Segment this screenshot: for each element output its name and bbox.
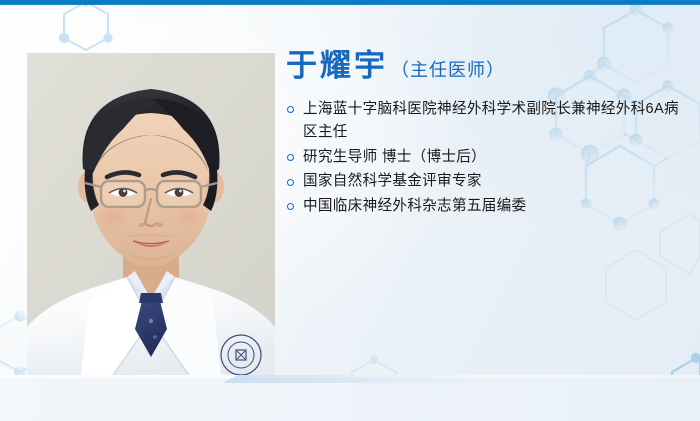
top-accent-bar [0,0,700,5]
credential-item: 研究生导师 博士（博士后） [286,146,680,170]
bottom-strip [0,375,700,421]
credential-item: 上海蓝十字脑科医院神经外科学术副院长兼神经外科6A病区主任 [286,98,680,145]
credential-item: 中国临床神经外科杂志第五届编委 [286,195,680,219]
doctor-profile-card: 于耀宇 （主任医师） 上海蓝十字脑科医院神经外科学术副院长兼神经外科6A病区主任… [0,0,700,421]
doctor-title-suffix: （主任医师） [391,56,505,82]
strip-diagonal-accent [223,375,509,383]
doctor-info-column: 于耀宇 （主任医师） 上海蓝十字脑科医院神经外科学术副院长兼神经外科6A病区主任… [286,50,680,219]
doctor-name-row: 于耀宇 （主任医师） [286,50,680,83]
doctor-name: 于耀宇 [286,50,388,83]
credential-item: 国家自然科学基金评审专家 [286,170,680,194]
credentials-list: 上海蓝十字脑科医院神经外科学术副院长兼神经外科6A病区主任 研究生导师 博士（博… [286,98,680,219]
doctor-portrait [27,53,275,375]
portrait-illustration [27,53,275,375]
